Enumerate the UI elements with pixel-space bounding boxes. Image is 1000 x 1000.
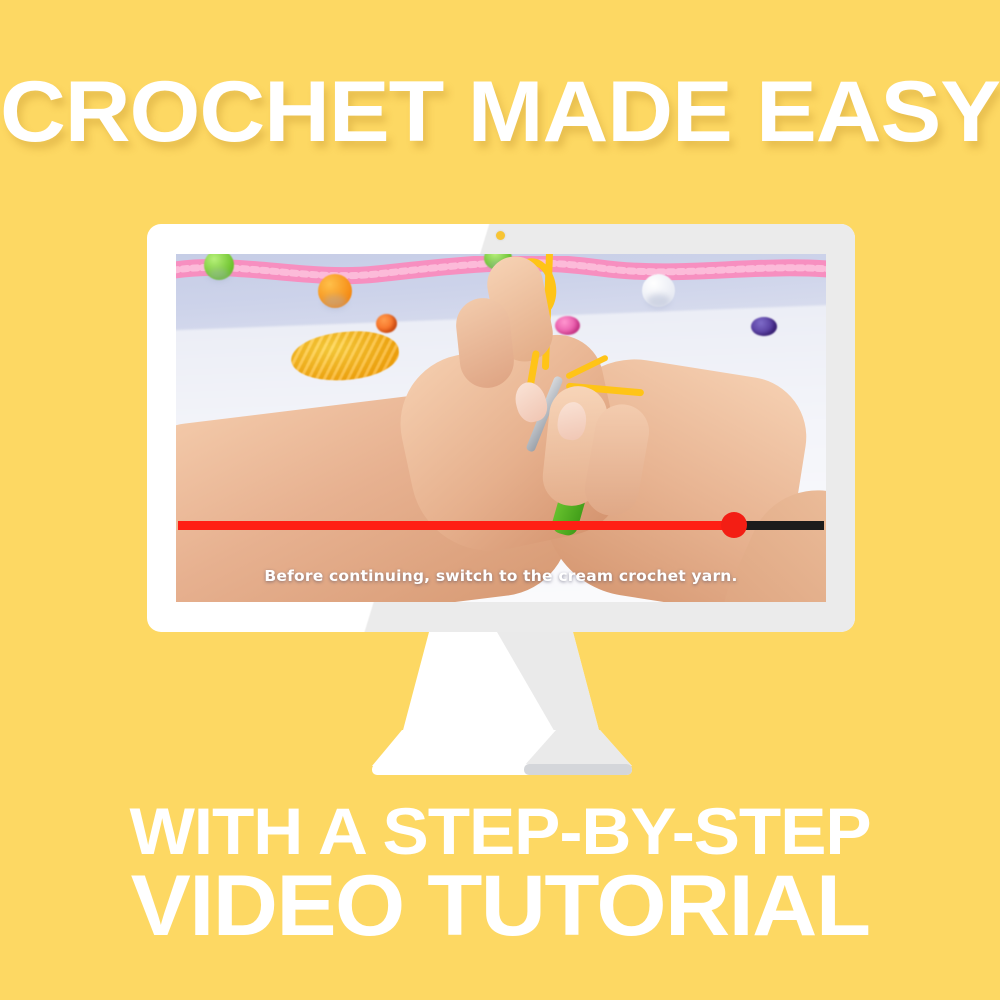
white-pom-pom (642, 274, 675, 307)
progress-scrubber-handle[interactable] (721, 512, 747, 538)
video-frame (176, 254, 826, 602)
green-pom-pom (204, 254, 234, 280)
purple-bead (751, 317, 777, 336)
video-caption: Before continuing, switch to the cream c… (176, 567, 826, 585)
subtitle-line-1: WITH A STEP-BY-STEP (0, 800, 1000, 863)
subtitle-line-2: VIDEO TUTORIAL (0, 866, 1000, 948)
pink-bead (555, 316, 580, 335)
orange-pom-pom (318, 274, 352, 308)
progress-fill (178, 521, 734, 530)
orange-bead (376, 314, 397, 333)
webcam-icon (496, 231, 505, 240)
video-progress-bar[interactable] (176, 518, 826, 532)
video-player[interactable]: Before continuing, switch to the cream c… (176, 254, 826, 602)
monitor-stand-base (0, 726, 1000, 782)
